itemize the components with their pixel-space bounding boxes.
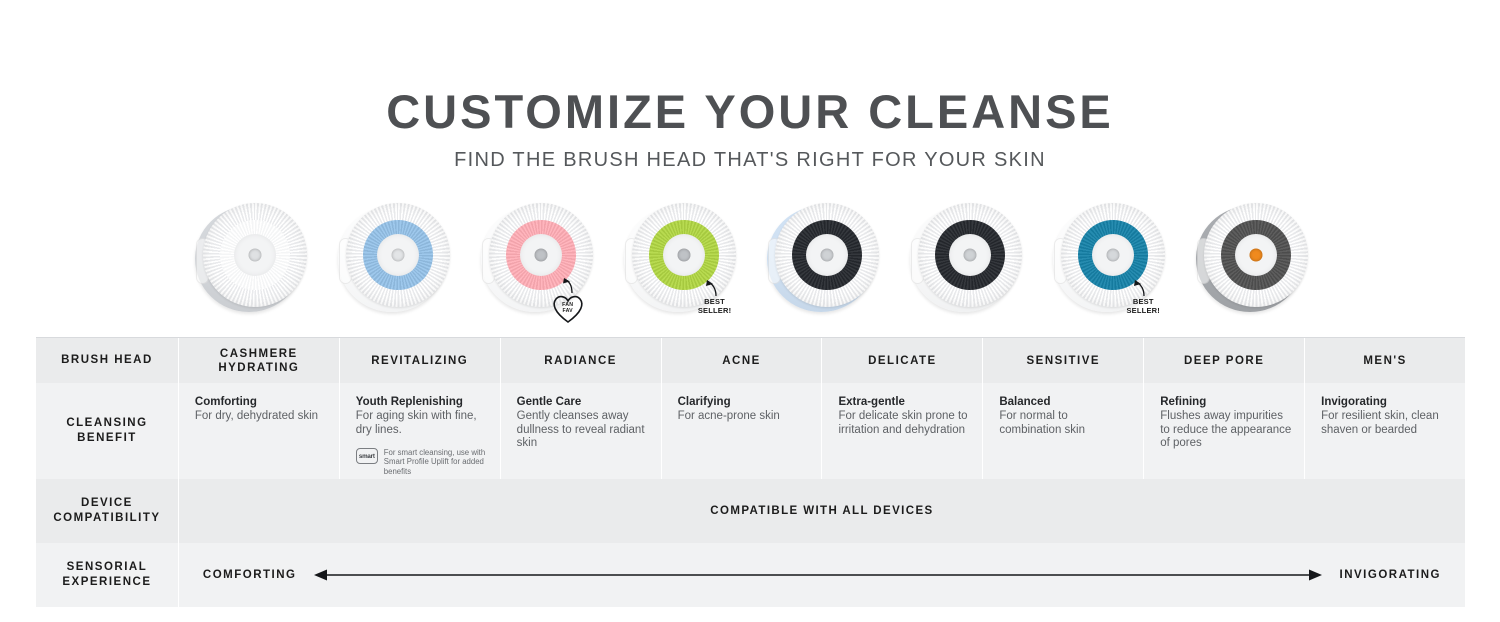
column-header: RADIANCE <box>501 338 662 383</box>
brush-head-image-cell[interactable]: BEST SELLER! <box>608 192 751 337</box>
brush-head-bristles <box>346 203 450 307</box>
benefit-description: For delicate skin prone to irritation an… <box>838 410 970 437</box>
brush-head-hub <box>1249 249 1262 262</box>
brush-head-image-cell[interactable]: BEST SELLER! <box>1036 192 1179 337</box>
column-header: REVITALIZING <box>340 338 501 383</box>
benefit-cell: Extra-gentle For delicate skin prone to … <box>822 383 983 479</box>
benefit-title: Invigorating <box>1321 395 1453 409</box>
curved-arrow-icon <box>703 280 723 298</box>
benefit-description: For dry, dehydrated skin <box>195 410 327 424</box>
fan-fav-label: FANFAV <box>551 303 585 314</box>
benefit-description: Flushes away impurities to reduce the ap… <box>1160 410 1292 451</box>
sensorial-left-label: COMFORTING <box>203 569 297 581</box>
brush-head-hub <box>820 249 833 262</box>
brush-head-image-cell[interactable] <box>1179 192 1322 337</box>
heart-icon: FANFAV <box>551 294 585 324</box>
fan-fav-callout: FANFAV <box>551 278 595 324</box>
curved-arrow-icon <box>560 278 580 294</box>
header: CUSTOMIZE YOUR CLEANSE FIND THE BRUSH HE… <box>0 0 1500 172</box>
brush-head-bristles <box>775 203 879 307</box>
benefit-title: Refining <box>1160 395 1292 409</box>
brush-head-bristles <box>918 203 1022 307</box>
benefit-title: Gentle Care <box>517 395 649 409</box>
smart-chip-icon: smart <box>356 448 378 464</box>
benefit-title: Balanced <box>999 395 1131 409</box>
brush-head-revitalizing[interactable] <box>334 200 452 318</box>
benefit-description: For normal to combination skin <box>999 410 1131 437</box>
brush-head-bristles <box>1204 203 1308 307</box>
cleansing-benefit-row: CLEANSING BENEFIT Comforting For dry, de… <box>36 383 1465 479</box>
row-label-cleansing-benefit: CLEANSING BENEFIT <box>36 383 179 479</box>
brush-head-sensitive[interactable] <box>906 200 1024 318</box>
benefit-cell: Gentle Care Gently cleanses away dullnes… <box>501 383 662 479</box>
benefit-cell: Comforting For dry, dehydrated skin <box>179 383 340 479</box>
benefit-cell: Clarifying For acne-prone skin <box>662 383 823 479</box>
brush-head-hub <box>249 249 262 262</box>
benefit-description: Gently cleanses away dullness to reveal … <box>517 410 649 451</box>
brush-head-delicate[interactable] <box>763 200 881 318</box>
best-seller-callout: BEST SELLER! <box>1120 280 1166 315</box>
benefit-cell: Invigorating For resilient skin, clean s… <box>1305 383 1465 479</box>
column-header: CASHMERE HYDRATING <box>179 338 340 383</box>
column-header: MEN'S <box>1305 338 1465 383</box>
benefit-cell: Refining Flushes away impurities to redu… <box>1144 383 1305 479</box>
best-seller-callout: BEST SELLER! <box>692 280 738 315</box>
benefit-description: For aging skin with fine, dry lines. <box>356 410 488 437</box>
row-label-brush-head: BRUSH HEAD <box>36 338 179 383</box>
brush-head-image-cell[interactable] <box>893 192 1036 337</box>
brush-head-bristles <box>203 203 307 307</box>
smart-note: smart For smart cleansing, use with Smar… <box>356 448 488 476</box>
brush-head-image-cell[interactable] <box>179 192 322 337</box>
double-arrow-icon <box>314 568 1321 582</box>
brush-head-mens[interactable] <box>1192 200 1310 318</box>
benefit-title: Extra-gentle <box>838 395 970 409</box>
page-subtitle: FIND THE BRUSH HEAD THAT'S RIGHT FOR YOU… <box>0 149 1500 172</box>
benefit-cell: Balanced For normal to combination skin <box>983 383 1144 479</box>
benefit-description: For resilient skin, clean shaven or bear… <box>1321 410 1453 437</box>
benefit-description: For acne-prone skin <box>678 410 810 424</box>
smart-note-text: For smart cleansing, use with Smart Prof… <box>384 448 488 476</box>
device-compatibility-row: DEVICE COMPATIBILITY COMPATIBLE WITH ALL… <box>36 479 1465 543</box>
column-header: DEEP PORE <box>1144 338 1305 383</box>
table-header-row: BRUSH HEAD CASHMERE HYDRATING REVITALIZI… <box>36 338 1465 383</box>
brush-head-image-cell[interactable] <box>322 192 465 337</box>
sensorial-scale: COMFORTING INVIGORATING <box>179 543 1465 607</box>
benefit-title: Clarifying <box>678 395 810 409</box>
curved-arrow-icon <box>1131 280 1151 298</box>
benefit-cell: Youth Replenishing For aging skin with f… <box>340 383 501 479</box>
row-label-sensorial-experience: SENSORIAL EXPERIENCE <box>36 543 179 607</box>
image-strip-spacer <box>36 192 179 337</box>
brush-head-hub <box>392 249 405 262</box>
benefit-title: Youth Replenishing <box>356 395 488 409</box>
best-seller-label: BEST SELLER! <box>1120 298 1166 315</box>
brush-head-hub <box>963 249 976 262</box>
column-header: ACNE <box>662 338 823 383</box>
sensorial-experience-row: SENSORIAL EXPERIENCE COMFORTING INVIGORA… <box>36 543 1465 607</box>
benefit-title: Comforting <box>195 395 327 409</box>
brush-head-image-cell[interactable]: FANFAV <box>465 192 608 337</box>
best-seller-label: BEST SELLER! <box>692 298 738 315</box>
row-label-device-compatibility: DEVICE COMPATIBILITY <box>36 479 179 543</box>
device-compatibility-value: COMPATIBLE WITH ALL DEVICES <box>179 479 1465 543</box>
column-header: DELICATE <box>822 338 983 383</box>
brush-head-image-cell[interactable] <box>750 192 893 337</box>
brush-head-hub <box>678 249 691 262</box>
column-header: SENSITIVE <box>983 338 1144 383</box>
brush-head-hub <box>535 249 548 262</box>
sensorial-right-label: INVIGORATING <box>1340 569 1441 581</box>
brush-head-cashmere-hydrating[interactable] <box>191 200 309 318</box>
brush-head-hub <box>1106 249 1119 262</box>
brush-head-image-strip: FANFAV BEST SELLER! BEST SELLER! <box>36 192 1465 337</box>
customize-your-cleanse-infographic: CUSTOMIZE YOUR CLEANSE FIND THE BRUSH HE… <box>0 0 1500 622</box>
brush-head-comparison-table: BRUSH HEAD CASHMERE HYDRATING REVITALIZI… <box>36 337 1465 607</box>
page-title: CUSTOMIZE YOUR CLEANSE <box>0 88 1500 135</box>
